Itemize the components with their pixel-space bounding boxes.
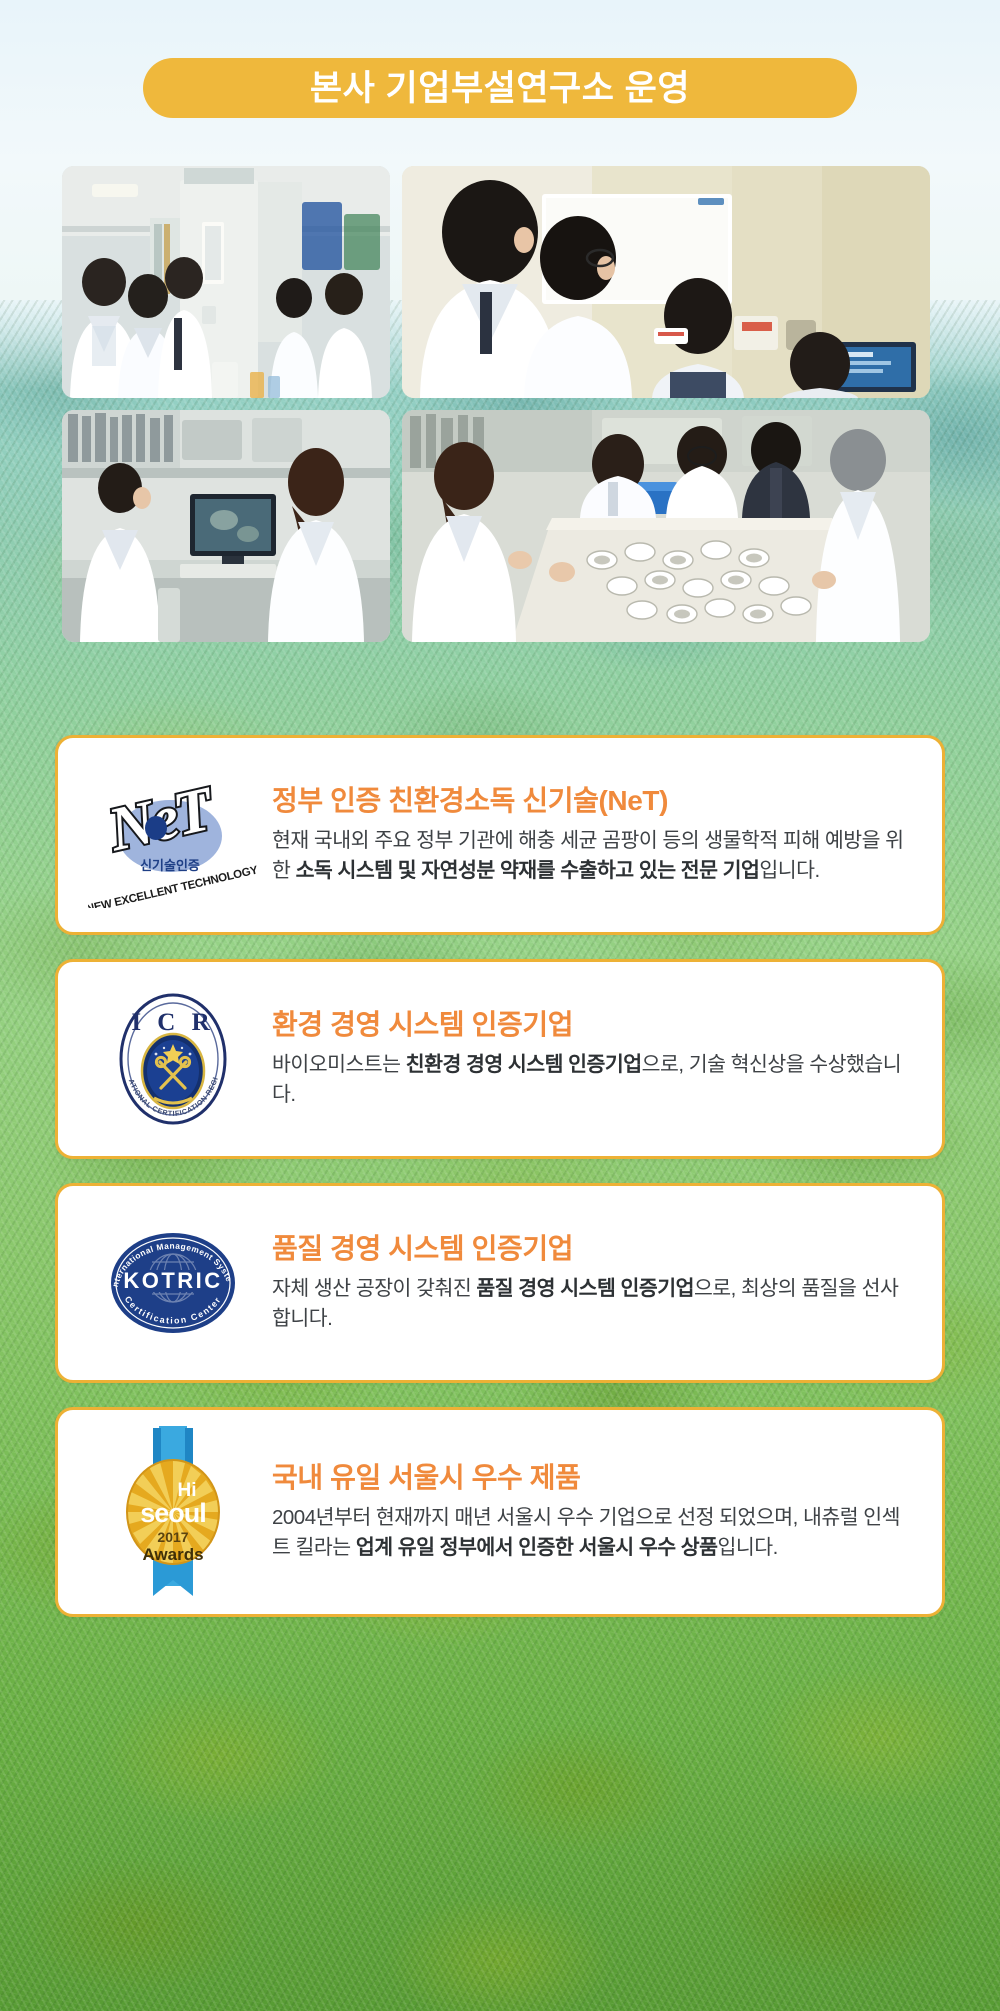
certification-card-list: NeT 신기술인증 NEW EXCELLENT TECHNOLOGY 정부 인증…: [55, 735, 945, 1617]
net-logo: NeT 신기술인증 NEW EXCELLENT TECHNOLOGY: [80, 760, 266, 910]
certification-description-net: 현재 국내외 주요 정부 기관에 해충 세균 곰팡이 등의 생물학적 피해 예방…: [272, 826, 912, 887]
certification-title-icr: 환경 경영 시스템 인증기업: [272, 1008, 912, 1041]
certification-title-hi-seoul: 국내 유일 서울시 우수 제품: [272, 1461, 912, 1494]
research-lab-photo-gallery: [62, 166, 938, 642]
certification-title-kotric: 품질 경영 시스템 인증기업: [272, 1232, 912, 1265]
kotric-logo: KOTRIC International Management System C…: [80, 1208, 266, 1358]
kotric-logo-mark: KOTRIC: [123, 1268, 222, 1293]
photo-lab-petri-dish-inspection: [402, 410, 930, 642]
photo-lab-team-computer: [402, 166, 930, 398]
certification-body-icr: 환경 경영 시스템 인증기업 바이오미스트는 친환경 경영 시스템 인증기업으로…: [266, 1008, 912, 1111]
hi-seoul-mark-main: seoul: [140, 1498, 206, 1528]
page-title-banner: 본사 기업부설연구소 운영: [143, 58, 857, 118]
certification-title-net: 정부 인증 친환경소독 신기술(NeT): [272, 784, 912, 817]
icr-logo-mark: I C R: [131, 1009, 214, 1036]
desc-part-bold: 소독 시스템 및 자연성분 약재를 수출하고 있는 전문 기업: [296, 859, 760, 882]
certification-description-icr: 바이오미스트는 친환경 경영 시스템 인증기업으로, 기술 혁신상을 수상했습니…: [272, 1050, 912, 1111]
desc-part: 바이오미스트는: [272, 1053, 406, 1076]
desc-part: 자체 생산 공장이 갖춰진: [272, 1277, 476, 1300]
desc-part: 입니다.: [759, 859, 819, 882]
certification-body-hi-seoul: 국내 유일 서울시 우수 제품 2004년부터 현재까지 매년 서울시 우수 기…: [266, 1461, 912, 1564]
hi-seoul-year: 2017: [157, 1529, 188, 1545]
promo-page: 본사 기업부설연구소 운영: [0, 0, 1000, 2011]
desc-part-bold: 품질 경영 시스템 인증기업: [476, 1277, 694, 1300]
photo-lab-microscope-monitor: [62, 410, 390, 642]
desc-part-bold: 업계 유일 정부에서 인증한 서울시 우수 상품: [356, 1536, 718, 1559]
certification-card-icr: I C R: [55, 959, 945, 1159]
photo-lab-researchers-equipment: [62, 166, 390, 398]
hi-seoul-awards-logo: Hi seoul 2017 Awards: [80, 1437, 266, 1587]
certification-body-net: 정부 인증 친환경소독 신기술(NeT) 현재 국내외 주요 정부 기관에 해충…: [266, 784, 912, 887]
certification-card-hi-seoul: Hi seoul 2017 Awards 국내 유일 서울시 우수 제품 200…: [55, 1407, 945, 1617]
certification-card-kotric: KOTRIC International Management System C…: [55, 1183, 945, 1383]
net-logo-caption-kr: 신기술인증: [140, 858, 200, 873]
certification-card-net: NeT 신기술인증 NEW EXCELLENT TECHNOLOGY 정부 인증…: [55, 735, 945, 935]
certification-body-kotric: 품질 경영 시스템 인증기업 자체 생산 공장이 갖춰진 품질 경영 시스템 인…: [266, 1232, 912, 1335]
certification-description-hi-seoul: 2004년부터 현재까지 매년 서울시 우수 기업으로 선정 되었으며, 내츄럴…: [272, 1503, 912, 1564]
icr-logo: I C R: [80, 984, 266, 1134]
page-title: 본사 기업부설연구소 운영: [310, 71, 690, 106]
desc-part-bold: 친환경 경영 시스템 인증기업: [406, 1053, 642, 1076]
hi-seoul-awards-label: Awards: [142, 1545, 203, 1564]
desc-part: 입니다.: [718, 1536, 778, 1559]
certification-description-kotric: 자체 생산 공장이 갖춰진 품질 경영 시스템 인증기업으로, 최상의 품질을 …: [272, 1274, 912, 1335]
